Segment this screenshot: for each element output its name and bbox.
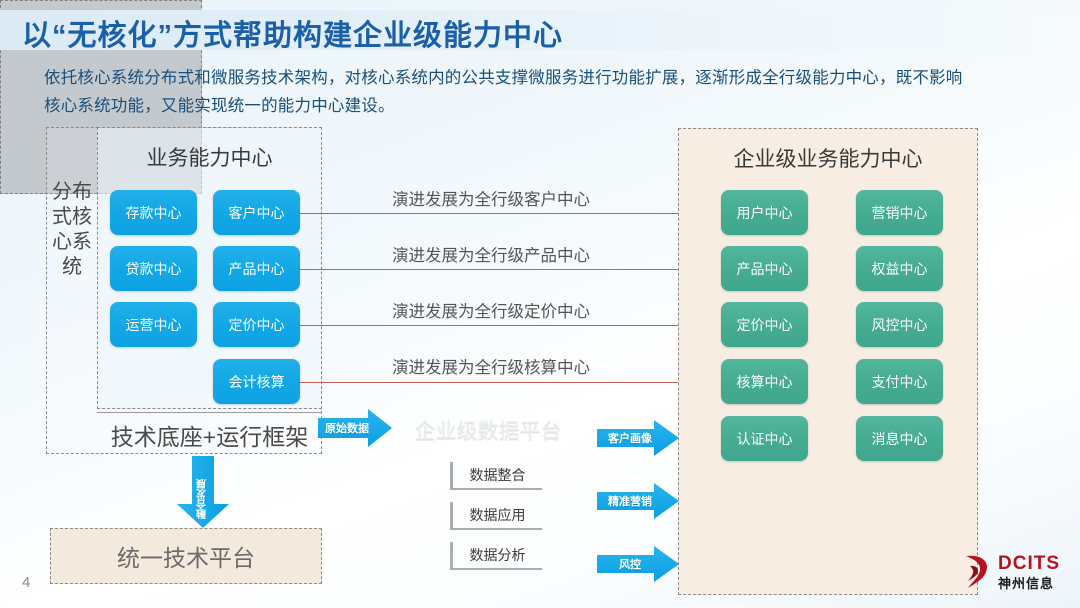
green-box-label: 支付中心 xyxy=(872,372,928,392)
blue-box-label: 会计核算 xyxy=(229,372,285,392)
logo-subtext: 神州信息 xyxy=(998,573,1054,592)
green-box-auth[interactable]: 认证中心 xyxy=(721,416,808,461)
green-box-label: 风控中心 xyxy=(872,315,928,335)
arrow-precision-marketing: 精准营销 xyxy=(597,483,679,519)
blue-box-product[interactable]: 产品中心 xyxy=(213,246,300,291)
green-box-user[interactable]: 用户中心 xyxy=(721,190,808,235)
business-capability-title: 业务能力中心 xyxy=(97,142,322,172)
blue-box-label: 定价中心 xyxy=(229,315,285,335)
arrow-raw-data: 原始数据 xyxy=(318,409,392,447)
arrow-fusion-development: 融合发展 xyxy=(177,456,229,528)
tech-base-bar: 技术底座+运行框架 xyxy=(97,412,322,456)
evolution-label-pricing: 演进发展为全行级定价中心 xyxy=(392,298,590,322)
blue-box-accounting[interactable]: 会计核算 xyxy=(213,359,300,404)
company-logo: DCITS 神州信息 xyxy=(960,552,1072,596)
unified-tech-platform-box: 统一技术平台 xyxy=(50,528,322,584)
unified-tech-platform-label: 统一技术平台 xyxy=(117,539,255,573)
green-box-risk[interactable]: 风控中心 xyxy=(856,302,943,347)
blue-box-pricing[interactable]: 定价中心 xyxy=(213,302,300,347)
page-number: 4 xyxy=(22,574,30,591)
data-platform-title: 企业级数据平台 xyxy=(388,415,588,445)
green-box-label: 认证中心 xyxy=(737,429,793,449)
green-box-payment[interactable]: 支付中心 xyxy=(856,359,943,404)
connector-line-product xyxy=(300,269,718,270)
green-box-label: 营销中心 xyxy=(872,203,928,223)
green-box-accounting[interactable]: 核算中心 xyxy=(721,359,808,404)
blue-box-label: 客户中心 xyxy=(229,203,285,223)
data-platform-item-label: 数据分析 xyxy=(470,545,526,565)
data-platform-item-application[interactable]: 数据应用 xyxy=(450,502,542,530)
arrow-risk-control-label: 风控 xyxy=(597,546,679,582)
green-box-label: 权益中心 xyxy=(872,259,928,279)
intro-paragraph: 依托核心系统分布式和微服务技术架构，对核心系统内的公共支撑微服务进行功能扩展，逐… xyxy=(44,64,974,120)
arrow-risk-control: 风控 xyxy=(597,546,679,582)
evolution-label-product: 演进发展为全行级产品中心 xyxy=(392,242,590,266)
arrow-precision-marketing-label: 精准营销 xyxy=(597,483,679,519)
blue-box-deposit[interactable]: 存款中心 xyxy=(110,190,197,235)
blue-box-customer[interactable]: 客户中心 xyxy=(213,190,300,235)
arrow-customer-profile: 客户画像 xyxy=(597,420,679,456)
arrow-fusion-label: 融合发展 xyxy=(177,456,229,528)
data-platform-item-label: 数据整合 xyxy=(470,465,526,485)
connector-line-pricing xyxy=(300,325,718,326)
logo-wordmark: DCITS xyxy=(998,553,1060,575)
blue-box-label: 产品中心 xyxy=(229,259,285,279)
evolution-label-accounting: 演进发展为全行级核算中心 xyxy=(392,354,590,378)
page-title: 以“无核化”方式帮助构建企业级能力中心 xyxy=(22,12,563,54)
green-box-product[interactable]: 产品中心 xyxy=(721,246,808,291)
connector-line-customer xyxy=(300,213,718,214)
green-box-rights[interactable]: 权益中心 xyxy=(856,246,943,291)
data-platform-item-analysis[interactable]: 数据分析 xyxy=(450,542,542,570)
evolution-label-customer: 演进发展为全行级客户中心 xyxy=(392,186,590,210)
enterprise-capability-title: 企业级业务能力中心 xyxy=(678,143,978,173)
arrow-customer-profile-label: 客户画像 xyxy=(597,420,679,456)
blue-box-label: 存款中心 xyxy=(126,203,182,223)
blue-box-label: 运营中心 xyxy=(126,315,182,335)
slide-canvas: 以“无核化”方式帮助构建企业级能力中心 依托核心系统分布式和微服务技术架构，对核… xyxy=(0,0,1080,608)
data-platform-item-integration[interactable]: 数据整合 xyxy=(450,462,542,490)
blue-box-label: 贷款中心 xyxy=(126,259,182,279)
arrow-raw-data-label: 原始数据 xyxy=(318,409,392,447)
dcits-mark-icon xyxy=(960,552,994,592)
green-box-label: 核算中心 xyxy=(737,372,793,392)
green-box-label: 消息中心 xyxy=(872,429,928,449)
green-box-label: 用户中心 xyxy=(737,203,793,223)
green-box-label: 产品中心 xyxy=(737,259,793,279)
green-box-label: 定价中心 xyxy=(737,315,793,335)
connector-line-accounting xyxy=(300,382,718,383)
blue-box-operation[interactable]: 运营中心 xyxy=(110,302,197,347)
blue-box-loan[interactable]: 贷款中心 xyxy=(110,246,197,291)
data-platform-item-label: 数据应用 xyxy=(470,505,526,525)
green-box-message[interactable]: 消息中心 xyxy=(856,416,943,461)
distributed-core-label: 分布式核心系统 xyxy=(50,180,94,280)
green-box-marketing[interactable]: 营销中心 xyxy=(856,190,943,235)
green-box-pricing[interactable]: 定价中心 xyxy=(721,302,808,347)
